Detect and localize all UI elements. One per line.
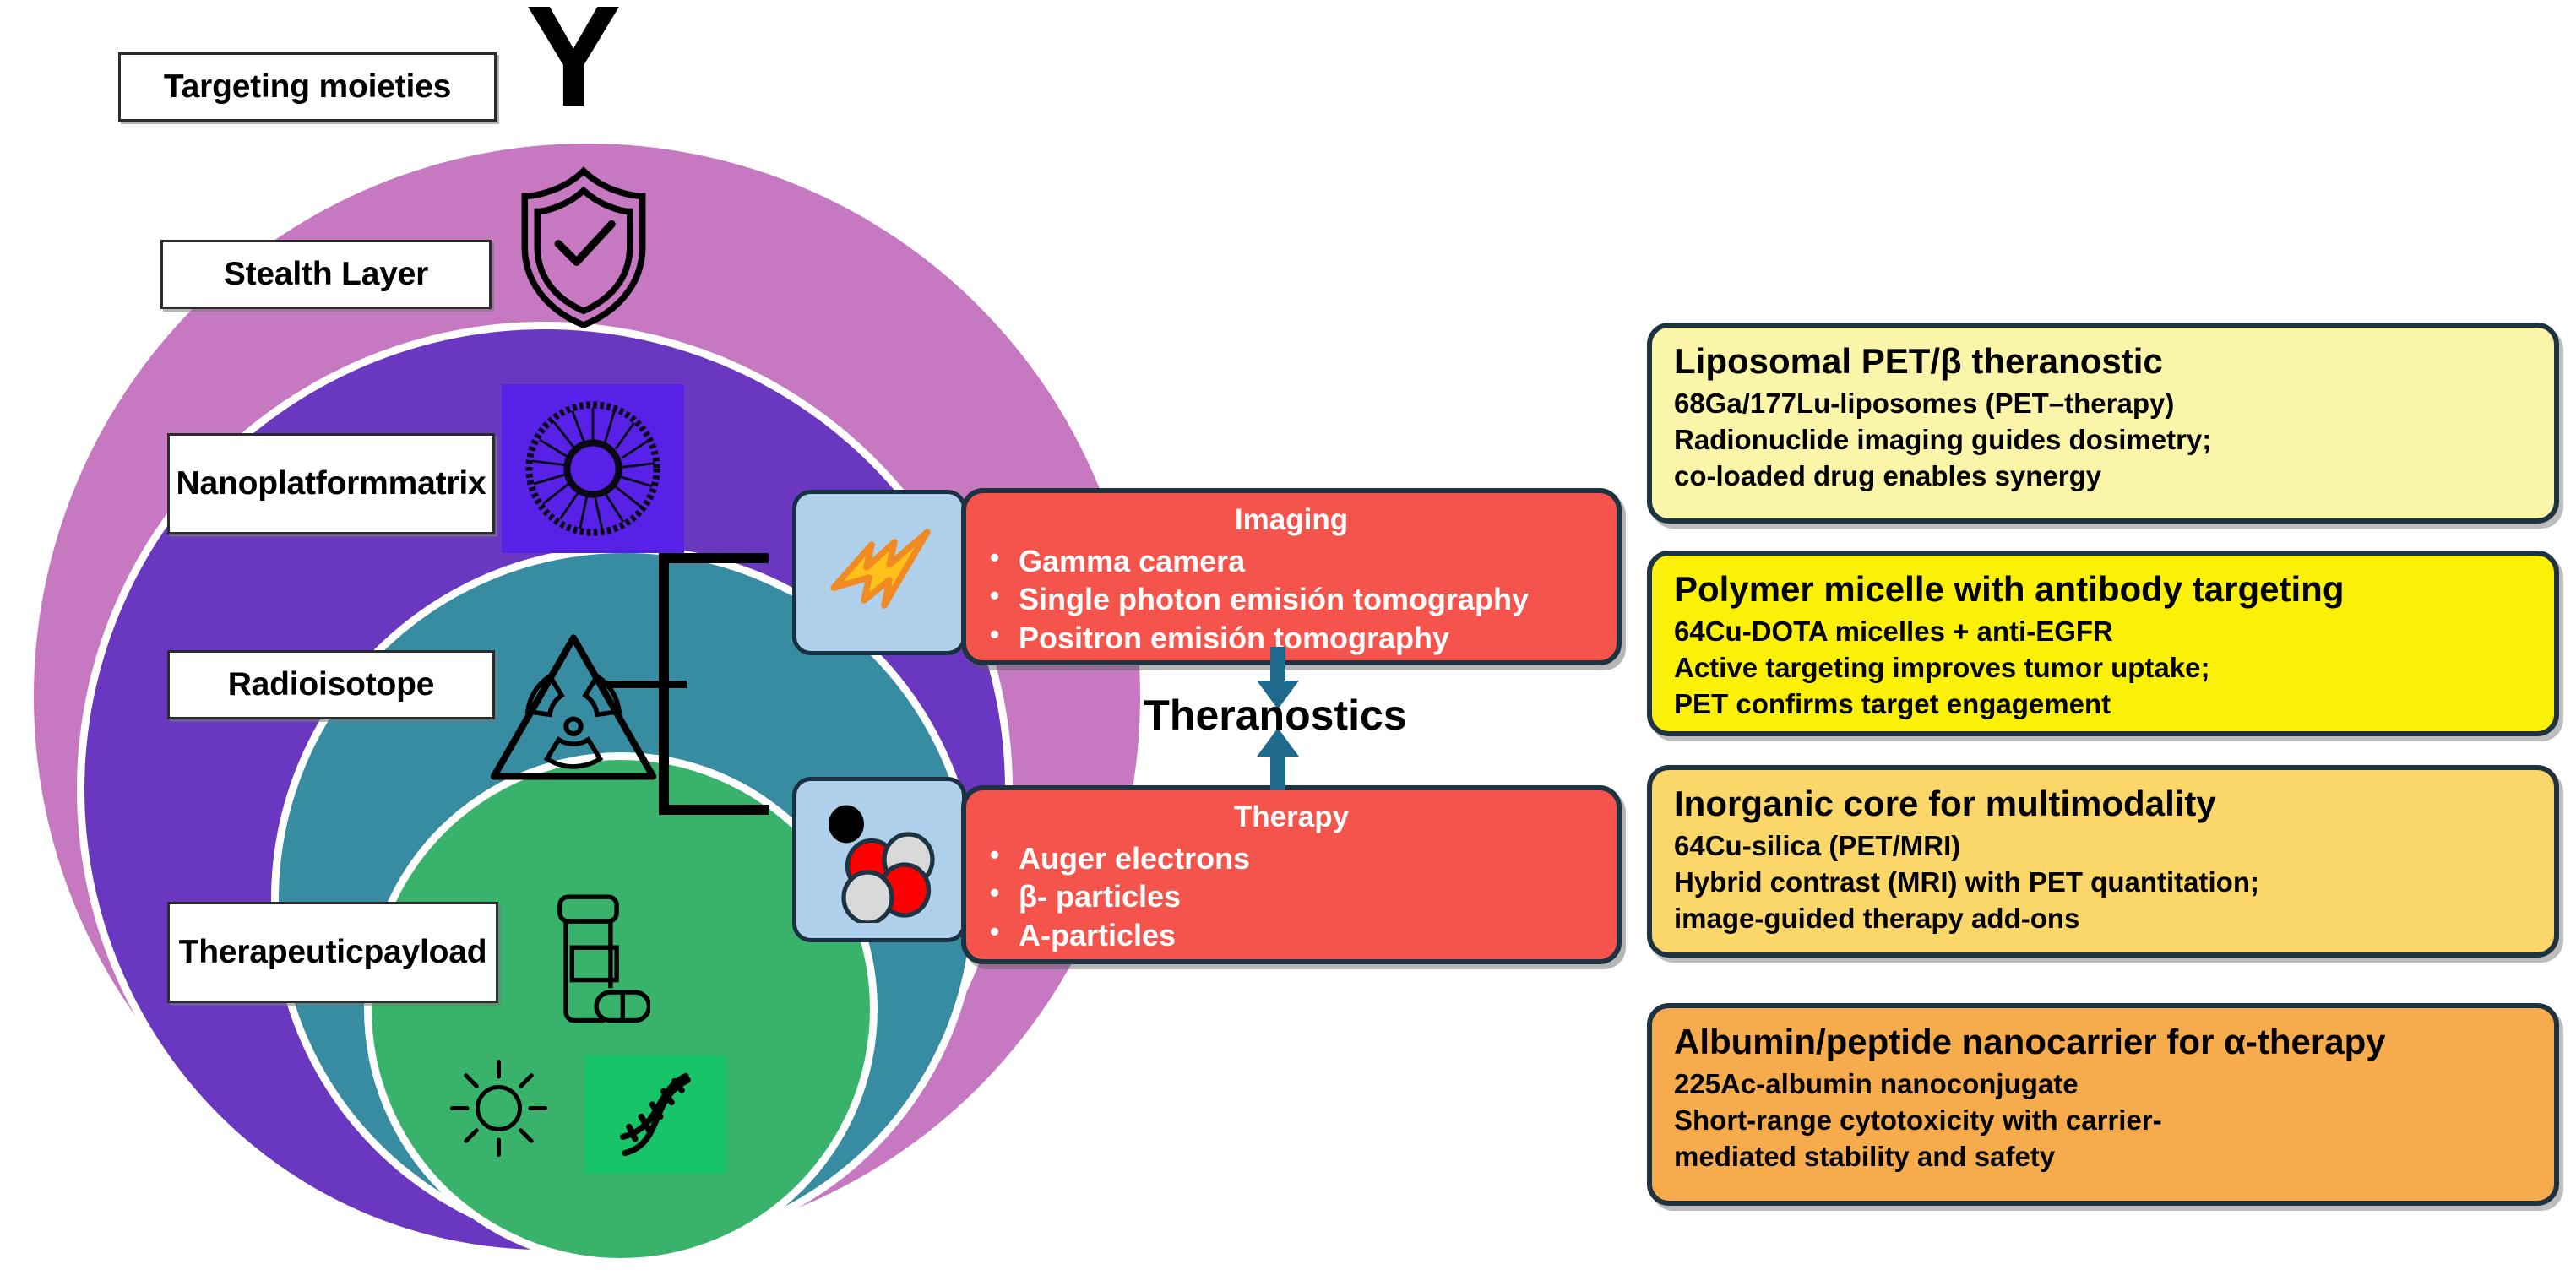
card-title: Inorganic core for multimodality — [1674, 784, 2532, 823]
therapy-title: Therapy — [966, 800, 1617, 834]
list-item: Positron emisión tomography — [1019, 619, 1617, 657]
dna-helix-icon — [584, 1055, 726, 1174]
drug-vial-pill-icon — [536, 891, 650, 1043]
list-item: β- particles — [1019, 877, 1617, 915]
antibody-y-icon: Y — [510, 0, 637, 120]
radiation-hazard-icon — [485, 629, 662, 785]
card-line: Radionuclide imaging guides dosimetry; — [1674, 422, 2532, 458]
card-title: Liposomal PET/β theranostic — [1674, 341, 2532, 381]
chip-text-line1: Nanoplatform — [177, 465, 389, 502]
liposome-micelle-icon — [502, 384, 684, 553]
example-card-liposomal: Liposomal PET/β theranostic 68Ga/177Lu-l… — [1647, 323, 2559, 524]
chip-text: Targeting moieties — [164, 68, 451, 106]
list-item: A-particles — [1019, 916, 1617, 954]
list-item: Single photon emisión tomography — [1019, 580, 1617, 618]
example-card-inorganic-core: Inorganic core for multimodality 64Cu-si… — [1647, 765, 2559, 958]
card-line: Active targeting improves tumor uptake; — [1674, 650, 2532, 686]
photodynamic-sun-icon — [446, 1055, 552, 1161]
lightning-bolt-icon — [792, 490, 966, 655]
label-radioisotope: Radioisotope — [167, 650, 495, 719]
theranostics-label: Theranostics — [1132, 691, 1419, 740]
example-card-albumin-peptide: Albumin/peptide nanocarrier for α-therap… — [1647, 1003, 2559, 1206]
imaging-title: Imaging — [966, 503, 1617, 537]
card-line: 64Cu-DOTA micelles + anti-EGFR — [1674, 614, 2532, 650]
chip-text: Radioisotope — [228, 666, 435, 703]
chip-text-line2: matrix — [389, 465, 486, 502]
card-title: Polymer micelle with antibody targeting — [1674, 569, 2532, 609]
card-line: PET confirms target engagement — [1674, 686, 2532, 723]
list-item: Gamma camera — [1019, 542, 1617, 580]
card-line: 64Cu-silica (PET/MRI) — [1674, 828, 2532, 865]
therapy-bullet-list: Auger electrons β- particles A-particles — [966, 839, 1617, 954]
card-line: image-guided therapy add-ons — [1674, 901, 2532, 937]
label-nanoplatform-matrix: Nanoplatform matrix — [167, 433, 495, 534]
card-title: Albumin/peptide nanocarrier for α-therap… — [1674, 1022, 2532, 1061]
chip-text: Stealth Layer — [224, 256, 428, 293]
nuclear-particles-icon — [792, 777, 966, 942]
bracket-connector — [650, 553, 769, 815]
card-line: mediated stability and safety — [1674, 1139, 2532, 1175]
card-line: Hybrid contrast (MRI) with PET quantitat… — [1674, 865, 2532, 901]
card-line: Short-range cytotoxicity with carrier- — [1674, 1103, 2532, 1139]
chip-text-line1: Therapeutic — [179, 934, 364, 971]
label-targeting-moieties: Targeting moieties — [118, 52, 497, 122]
card-line: co-loaded drug enables synergy — [1674, 458, 2532, 495]
imaging-box: Imaging Gamma camera Single photon emisi… — [961, 488, 1622, 665]
label-therapeutic-payload: Therapeutic payload — [167, 902, 498, 1003]
example-card-polymer-micelle: Polymer micelle with antibody targeting … — [1647, 551, 2559, 736]
chip-text-line2: payload — [363, 934, 486, 971]
card-line: 225Ac-albumin nanoconjugate — [1674, 1066, 2532, 1103]
imaging-bullet-list: Gamma camera Single photon emisión tomog… — [966, 542, 1617, 657]
list-item: Auger electrons — [1019, 839, 1617, 877]
card-line: 68Ga/177Lu-liposomes (PET–therapy) — [1674, 386, 2532, 422]
label-stealth-layer: Stealth Layer — [160, 240, 492, 309]
shield-check-icon — [514, 162, 654, 331]
diagram-canvas: Y — [0, 0, 2576, 1275]
therapy-box: Therapy Auger electrons β- particles A-p… — [961, 785, 1622, 964]
